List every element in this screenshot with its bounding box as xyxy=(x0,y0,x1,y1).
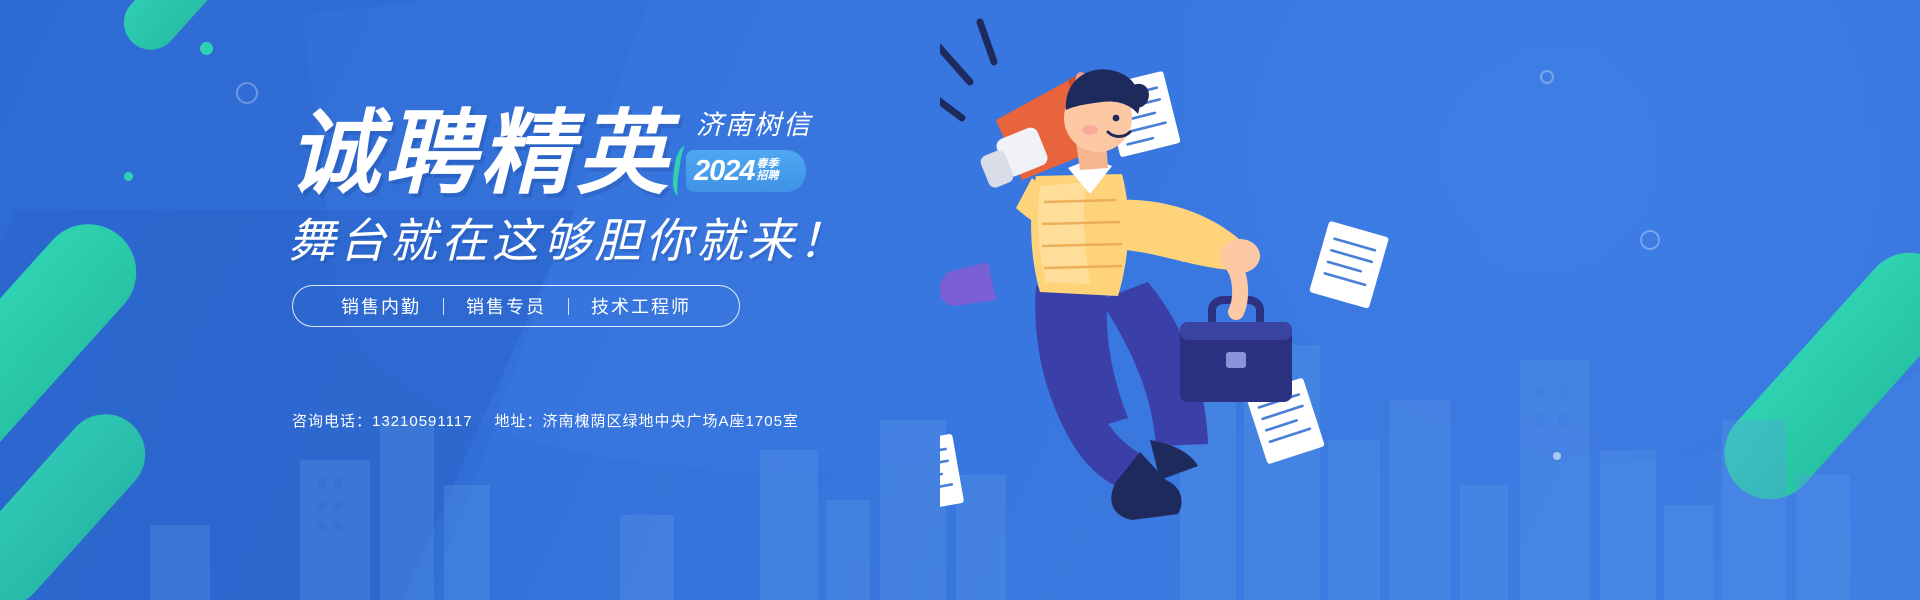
recruitment-banner: 诚聘精英 济南树信 2024 春季 招聘 舞台就在这够胆你就来！ 销售内勤 销售… xyxy=(0,0,1920,600)
year-number: 2024 xyxy=(694,157,755,186)
page-title: 诚聘精英 xyxy=(288,108,672,200)
job-tag-1[interactable]: 销售专员 xyxy=(444,293,568,319)
person-illustration xyxy=(940,69,1292,520)
contact-info: 咨询电话：13210591117 地址：济南槐荫区绿地中央广场A座1705室 xyxy=(292,410,799,431)
year-badge: 2024 春季 招聘 xyxy=(686,150,806,192)
headline-row: 诚聘精英 济南树信 2024 春季 招聘 xyxy=(288,108,836,204)
year-badge-accent xyxy=(671,145,694,197)
recruitment-illustration xyxy=(940,0,1920,600)
year-badge-subtitle-line2: 招聘 xyxy=(757,170,779,182)
page-subtitle: 舞台就在这够胆你就来！ xyxy=(288,202,849,271)
company-badge-block: 济南树信 2024 春季 招聘 xyxy=(686,112,836,204)
job-tag-2[interactable]: 技术工程师 xyxy=(569,293,713,319)
briefcase-icon xyxy=(1180,264,1292,402)
contact-phone: 咨询电话：13210591117 xyxy=(292,410,473,431)
job-tags-pill: 销售内勤 销售专员 技术工程师 xyxy=(292,285,740,327)
year-badge-subtitle: 春季 招聘 xyxy=(757,159,779,182)
contact-address: 地址：济南槐荫区绿地中央广场A座1705室 xyxy=(495,410,799,431)
company-name: 济南树信 xyxy=(686,112,836,139)
banner-content: 诚聘精英 济南树信 2024 春季 招聘 舞台就在这够胆你就来！ 销售内勤 销售… xyxy=(0,0,980,600)
year-badge-subtitle-line1: 春季 xyxy=(757,158,779,170)
job-tag-0[interactable]: 销售内勤 xyxy=(319,293,443,319)
